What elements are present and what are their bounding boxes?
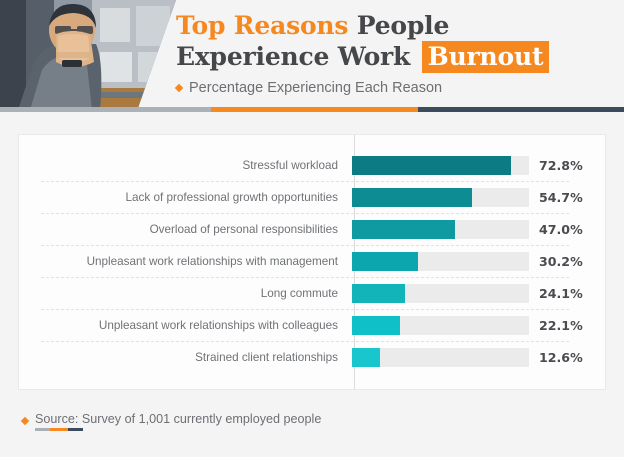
subtitle-text: Percentage Experiencing Each Reason xyxy=(189,80,442,96)
title-accent: Top Reasons xyxy=(176,11,348,40)
bar-label: Strained client relationships xyxy=(19,351,349,364)
bar-label: Lack of professional growth opportunitie… xyxy=(19,191,349,204)
stressed-man-illustration xyxy=(0,0,176,110)
bar-track xyxy=(352,284,529,303)
bar-label: Unpleasant work relationships with colle… xyxy=(19,319,349,332)
chart-row: Lack of professional growth opportunitie… xyxy=(19,181,607,213)
bar-fill xyxy=(352,284,405,303)
source-word: Source xyxy=(35,412,75,426)
row-separator xyxy=(41,181,569,182)
bar-track xyxy=(352,220,529,239)
divider-segment-dark xyxy=(418,107,624,112)
bar-fill xyxy=(352,156,511,175)
row-separator xyxy=(41,277,569,278)
row-separator xyxy=(41,245,569,246)
chart-row: Stressful workload72.8% xyxy=(19,149,607,181)
bar-value: 30.2% xyxy=(529,254,591,269)
diamond-bullet-icon xyxy=(21,417,29,425)
bar-value: 72.8% xyxy=(529,158,591,173)
bar-track xyxy=(352,188,529,207)
header-divider xyxy=(0,107,624,112)
bar-value: 22.1% xyxy=(529,318,591,333)
chart-row: Unpleasant work relationships with colle… xyxy=(19,309,607,341)
header: Top Reasons People Experience Work Burno… xyxy=(0,0,624,110)
diamond-bullet-icon xyxy=(175,84,183,92)
source-label: Source xyxy=(35,412,75,426)
title-rest-1: People xyxy=(348,11,449,40)
bar-fill xyxy=(352,188,472,207)
row-separator xyxy=(41,341,569,342)
bar-value: 12.6% xyxy=(529,350,591,365)
bar-label: Unpleasant work relationships with manag… xyxy=(19,255,349,268)
chart-row: Strained client relationships12.6% xyxy=(19,341,607,373)
bar-track xyxy=(352,156,529,175)
infographic-page: Top Reasons People Experience Work Burno… xyxy=(0,0,624,457)
bar-track xyxy=(352,316,529,335)
source-footer: Source: Survey of 1,001 currently employ… xyxy=(22,412,321,426)
chart-row: Overload of personal responsibilities47.… xyxy=(19,213,607,245)
chart-row: Unpleasant work relationships with manag… xyxy=(19,245,607,277)
bar-value: 47.0% xyxy=(529,222,591,237)
bar-track xyxy=(352,252,529,271)
bar-chart: Stressful workload72.8%Lack of professio… xyxy=(19,149,607,373)
bar-label: Overload of personal responsibilities xyxy=(19,223,349,236)
bar-label: Long commute xyxy=(19,287,349,300)
hero-photo xyxy=(0,0,176,110)
title-line-2: Experience Work Burnout xyxy=(176,41,624,73)
bar-track xyxy=(352,348,529,367)
bar-fill xyxy=(352,220,455,239)
title-rest-2: Experience Work xyxy=(176,42,419,71)
source-text: Source: Survey of 1,001 currently employ… xyxy=(35,412,321,426)
chart-row: Long commute24.1% xyxy=(19,277,607,309)
bar-label: Stressful workload xyxy=(19,159,349,172)
divider-segment-gray xyxy=(0,107,211,112)
title-highlight-burnout: Burnout xyxy=(422,41,550,73)
bar-fill xyxy=(352,252,418,271)
bar-fill xyxy=(352,316,400,335)
bar-value: 54.7% xyxy=(529,190,591,205)
title-line-1: Top Reasons People xyxy=(176,10,624,41)
bar-value: 24.1% xyxy=(529,286,591,301)
row-separator xyxy=(41,309,569,310)
divider-segment-orange xyxy=(211,107,418,112)
subtitle: Percentage Experiencing Each Reason xyxy=(176,80,624,96)
source-detail: : Survey of 1,001 currently employed peo… xyxy=(75,412,321,426)
row-separator xyxy=(41,213,569,214)
title-block: Top Reasons People Experience Work Burno… xyxy=(176,10,624,96)
source-underline xyxy=(35,428,83,431)
bar-fill xyxy=(352,348,380,367)
chart-card: Stressful workload72.8%Lack of professio… xyxy=(18,134,606,390)
